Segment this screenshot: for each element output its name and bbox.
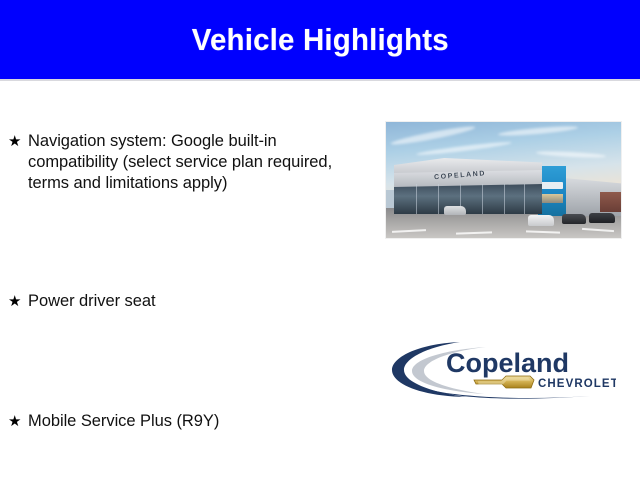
logo-brand-name: Copeland: [446, 348, 569, 378]
photo-window-mullion: [504, 184, 505, 214]
bullet-item: ★ Navigation system: Google built-in com…: [8, 131, 360, 194]
photo-tower-sign: [541, 182, 563, 189]
bullet-text: Navigation system: Google built-in compa…: [28, 131, 360, 194]
photo-background-building: [600, 192, 621, 212]
bullet-item: ★ Power driver seat: [8, 291, 360, 312]
title-banner-divider: [0, 79, 640, 81]
bullet-item: ★ Mobile Service Plus (R9Y): [8, 411, 360, 432]
photo-window-mullion: [438, 184, 439, 214]
photo-car: [528, 215, 554, 226]
page-title: Vehicle Highlights: [191, 24, 448, 55]
photo-car: [444, 206, 466, 215]
photo-window-mullion: [416, 184, 417, 214]
slide-canvas: Vehicle Highlights ★ Navigation system: …: [0, 0, 640, 480]
dealership-photo: COPELAND: [386, 122, 621, 238]
photo-window-mullion: [524, 184, 525, 214]
logo-swoosh-lower: [430, 390, 590, 399]
copeland-chevrolet-logo: Copeland CHEVROLET: [390, 338, 616, 400]
photo-blue-tower: [538, 166, 566, 216]
star-bullet-icon: ★: [8, 291, 28, 312]
photo-window-mullion: [482, 184, 483, 214]
star-bullet-icon: ★: [8, 131, 28, 152]
bullet-text: Mobile Service Plus (R9Y): [28, 411, 360, 432]
photo-car: [562, 214, 586, 224]
bullet-text: Power driver seat: [28, 291, 360, 312]
photo-tower-window: [541, 194, 563, 203]
star-bullet-icon: ★: [8, 411, 28, 432]
photo-car: [589, 213, 615, 223]
title-banner: Vehicle Highlights: [0, 0, 640, 79]
logo-brand-subtitle: CHEVROLET: [538, 378, 616, 390]
